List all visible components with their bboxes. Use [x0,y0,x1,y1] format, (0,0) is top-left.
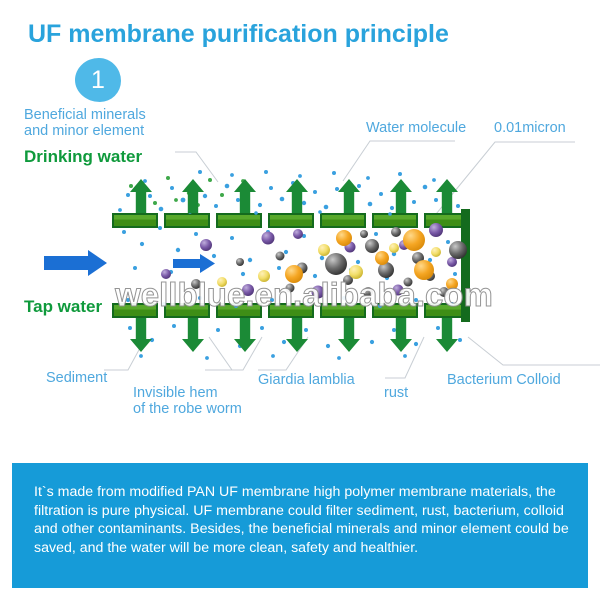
label-giardia-lamblia: Giardia lamblia [258,372,355,388]
label-water-molecule: Water molecule [366,120,466,136]
description-text: It`s made from modified PAN UF membrane … [34,483,570,557]
membrane-bar-top [112,213,464,228]
page-title: UF membrane purification principle [28,20,449,49]
step-number-badge: 1 [75,58,121,102]
inlet-arrow [44,250,107,276]
label-invisible-hem: Invisible hem of the robe worm [133,385,242,417]
membrane-segment [372,213,418,228]
label-drinking-water: Drinking water [24,147,142,167]
down-arrow-group [130,318,458,352]
membrane-segment [112,213,158,228]
watermark: wellblue.en.alibaba.com [84,276,524,314]
label-micron: 0.01micron [494,120,566,136]
label-beneficial-minerals: Beneficial minerals and minor element [24,107,146,139]
membrane-segment [268,213,314,228]
description-panel: It`s made from modified PAN UF membrane … [12,463,588,588]
membrane-segment [320,213,366,228]
label-sediment: Sediment [46,370,107,386]
label-bacterium-colloid: Bacterium Colloid [447,372,561,388]
membrane-segment [164,213,210,228]
label-rust: rust [384,385,408,401]
up-arrow-group [130,179,458,213]
membrane-segment [216,213,262,228]
infographic-root: UF membrane purification principle 1 Ben… [0,0,600,600]
